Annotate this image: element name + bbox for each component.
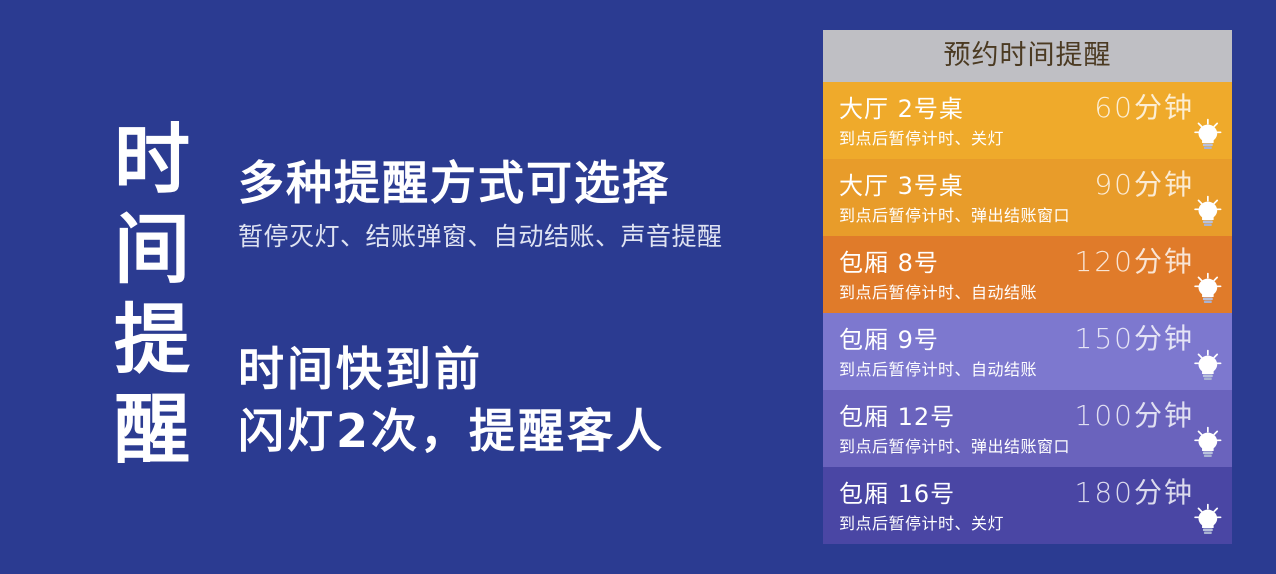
panel-header: 预约时间提醒 [823,30,1232,82]
reminder-row-note: 到点后暂停计时、弹出结账窗口 [839,436,1216,458]
reminder-row-top: 包厢 16号180分钟 [839,477,1216,513]
reminder-row-top: 包厢 8号120分钟 [839,246,1216,282]
reminder-row-label: 包厢 8号 [839,248,939,278]
copy-block-reminder-methods: 多种提醒方式可选择 暂停灭灯、结账弹窗、自动结账、声音提醒 [238,155,798,253]
reminder-row-duration: 180分钟 [1075,477,1216,509]
reminder-row-top: 包厢 12号100分钟 [839,400,1216,436]
headline-reminder-methods: 多种提醒方式可选择 [238,155,798,211]
vertical-title-char-2: 间 [114,208,190,292]
reminder-row-top: 大厅 3号桌90分钟 [839,169,1216,205]
vertical-title-char-4: 醒 [114,388,190,472]
headline-flash-alert-line2: 闪灯2次，提醒客人 [238,400,838,462]
vertical-title: 时 间 提 醒 [96,118,208,472]
reminder-row-note: 到点后暂停计时、自动结账 [839,359,1216,381]
reminder-row[interactable]: 大厅 3号桌90分钟到点后暂停计时、弹出结账窗口 [823,159,1232,236]
reminder-row-duration: 120分钟 [1075,246,1216,278]
reminder-row[interactable]: 包厢 16号180分钟到点后暂停计时、关灯 [823,467,1232,544]
reminder-row[interactable]: 包厢 9号150分钟到点后暂停计时、自动结账 [823,313,1232,390]
reminder-row[interactable]: 包厢 8号120分钟到点后暂停计时、自动结账 [823,236,1232,313]
reminder-row-label: 包厢 9号 [839,325,939,355]
reminder-row-duration: 60分钟 [1094,92,1216,124]
poster-root: 时 间 提 醒 多种提醒方式可选择 暂停灭灯、结账弹窗、自动结账、声音提醒 时间… [0,0,1276,574]
vertical-title-char-3: 提 [114,298,190,382]
reminder-row[interactable]: 包厢 12号100分钟到点后暂停计时、弹出结账窗口 [823,390,1232,467]
subline-reminder-methods: 暂停灭灯、结账弹窗、自动结账、声音提醒 [238,221,798,253]
headline-flash-alert-line1: 时间快到前 [238,338,838,400]
reminder-row-label: 包厢 16号 [839,479,955,509]
reminder-row-label: 大厅 2号桌 [839,94,964,124]
reminder-row-list: 大厅 2号桌60分钟到点后暂停计时、关灯 大厅 3号桌90分钟到点后暂停计时、弹… [823,82,1232,544]
reminder-row-duration: 90分钟 [1094,169,1216,201]
reservation-reminder-panel: 预约时间提醒 大厅 2号桌60分钟到点后暂停计时、关灯 大厅 3号桌90分钟到点… [823,30,1232,545]
reminder-row-duration: 150分钟 [1075,323,1216,355]
reminder-row-top: 包厢 9号150分钟 [839,323,1216,359]
reminder-row-note: 到点后暂停计时、自动结账 [839,282,1216,304]
copy-block-flash-alert: 时间快到前 闪灯2次，提醒客人 [238,338,838,462]
reminder-row-note: 到点后暂停计时、弹出结账窗口 [839,205,1216,227]
reminder-row-top: 大厅 2号桌60分钟 [839,92,1216,128]
vertical-title-char-1: 时 [114,118,190,202]
panel-header-title: 预约时间提醒 [944,40,1112,72]
reminder-row-label: 包厢 12号 [839,402,955,432]
reminder-row-label: 大厅 3号桌 [839,171,964,201]
reminder-row[interactable]: 大厅 2号桌60分钟到点后暂停计时、关灯 [823,82,1232,159]
reminder-row-note: 到点后暂停计时、关灯 [839,513,1216,535]
reminder-row-duration: 100分钟 [1075,400,1216,432]
reminder-row-note: 到点后暂停计时、关灯 [839,128,1216,150]
